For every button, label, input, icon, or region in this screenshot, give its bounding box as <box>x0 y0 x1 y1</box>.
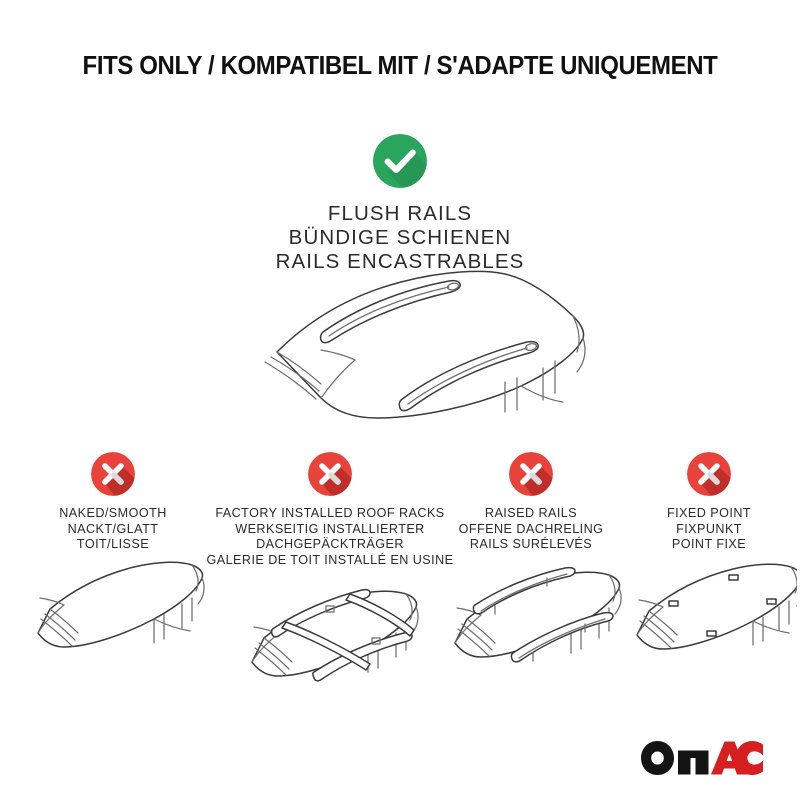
approved-badge-wrap <box>0 134 800 188</box>
option-label-line-3: RAILS SURÉLEVÉS <box>432 537 630 553</box>
option-badge-wrap <box>205 452 455 496</box>
x-circle-icon <box>509 452 553 496</box>
option-badge-wrap <box>18 452 208 496</box>
option-label-line-2: NACKT/GLATT <box>18 522 208 538</box>
option-label-line-4: GALERIE DE TOIT INSTALLÉ EN USINE <box>205 553 455 569</box>
car-roof-naked-illustration <box>18 557 208 679</box>
incompatible-options-row: NAKED/SMOOTH NACKT/GLATT TOIT/LISSE <box>0 452 800 702</box>
option-label-line-2: FIXPUNKT <box>620 522 798 538</box>
option-label: NAKED/SMOOTH NACKT/GLATT TOIT/LISSE <box>18 506 208 553</box>
option-badge-wrap <box>620 452 798 496</box>
option-label-line-3: TOIT/LISSE <box>18 537 208 553</box>
option-label-line-1: RAISED RAILS <box>432 506 630 522</box>
option-label-line-3: POINT FIXE <box>620 537 798 553</box>
approved-label-line-1: FLUSH RAILS <box>0 202 800 226</box>
check-circle-icon <box>373 134 427 188</box>
option-label: FIXED POINT FIXPUNKT POINT FIXE <box>620 506 798 553</box>
option-label: FACTORY INSTALLED ROOF RACKS WERKSEITIG … <box>205 506 455 568</box>
car-roof-fixed-point-illustration <box>620 557 798 679</box>
car-roof-factory-racks-illustration <box>205 572 455 698</box>
approved-label-line-2: BÜNDIGE SCHIENEN <box>0 226 800 250</box>
option-label-line-2: OFFENE DACHRELING <box>432 522 630 538</box>
option-label-line-3: DACHGEPÄCKTRÄGER <box>205 537 455 553</box>
option-fixed-point: FIXED POINT FIXPUNKT POINT FIXE <box>620 452 798 679</box>
option-raised-rails: RAISED RAILS OFFENE DACHRELING RAILS SUR… <box>432 452 630 681</box>
option-badge-wrap <box>432 452 630 496</box>
x-circle-icon <box>91 452 135 496</box>
x-circle-icon <box>687 452 731 496</box>
page-title: FITS ONLY / KOMPATIBEL MIT / S'ADAPTE UN… <box>24 52 776 81</box>
option-naked-smooth: NAKED/SMOOTH NACKT/GLATT TOIT/LISSE <box>18 452 208 679</box>
option-label-line-2: WERKSEITIG INSTALLIERTER <box>205 522 455 538</box>
omac-logo <box>638 738 766 778</box>
car-roof-flush-rails-illustration <box>0 260 800 425</box>
option-label-line-1: FACTORY INSTALLED ROOF RACKS <box>205 506 455 522</box>
car-roof-raised-rails-illustration <box>432 557 630 681</box>
option-label-line-1: FIXED POINT <box>620 506 798 522</box>
option-factory-installed-roof-racks: FACTORY INSTALLED ROOF RACKS WERKSEITIG … <box>205 452 455 698</box>
x-circle-icon <box>308 452 352 496</box>
approved-option: FLUSH RAILS BÜNDIGE SCHIENEN RAILS ENCAS… <box>0 134 800 274</box>
option-label: RAISED RAILS OFFENE DACHRELING RAILS SUR… <box>432 506 630 553</box>
option-label-line-1: NAKED/SMOOTH <box>18 506 208 522</box>
